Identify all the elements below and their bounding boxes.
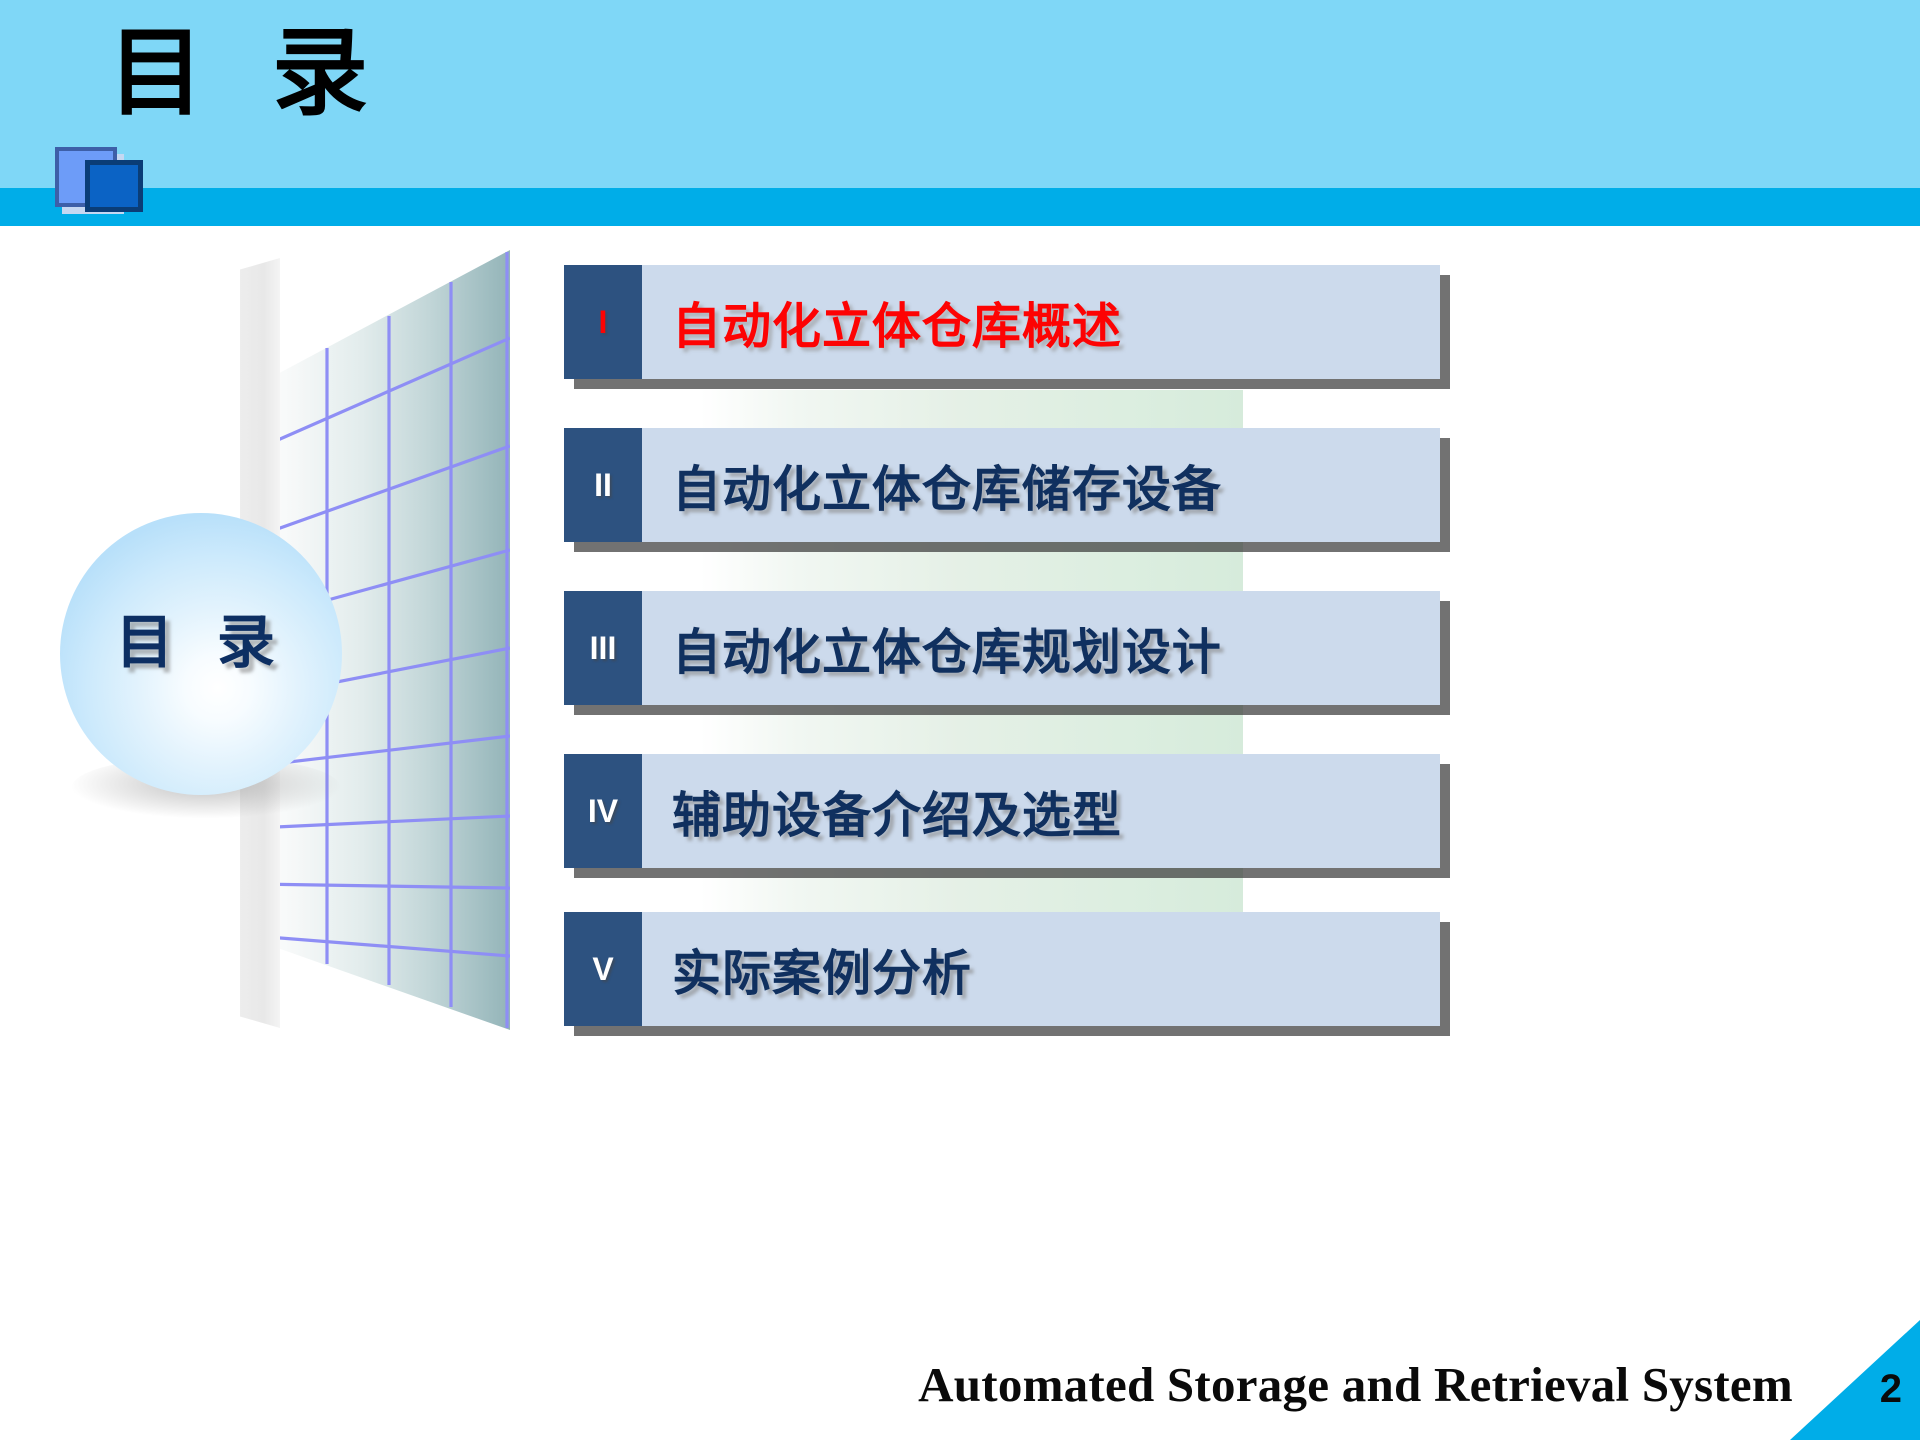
contents-row-5[interactable]: V 实际案例分析: [564, 912, 1440, 1026]
row-label: 实际案例分析: [642, 912, 1440, 1026]
row-body[interactable]: III 自动化立体仓库规划设计: [564, 591, 1440, 705]
row-label: 自动化立体仓库规划设计: [642, 591, 1440, 705]
contents-row-3[interactable]: III 自动化立体仓库规划设计: [564, 591, 1440, 705]
row-numeral: III: [564, 591, 642, 705]
row-numeral: IV: [564, 754, 642, 868]
row-numeral: V: [564, 912, 642, 1026]
contents-row-1[interactable]: I 自动化立体仓库概述: [564, 265, 1440, 379]
row-label: 自动化立体仓库概述: [642, 265, 1440, 379]
row-numeral: II: [564, 428, 642, 542]
row-body[interactable]: V 实际案例分析: [564, 912, 1440, 1026]
sphere-label: 目 录: [60, 595, 342, 679]
row-body[interactable]: I 自动化立体仓库概述: [564, 265, 1440, 379]
row-numeral: I: [564, 265, 642, 379]
row-body[interactable]: IV 辅助设备介绍及选型: [564, 754, 1440, 868]
row-body[interactable]: II 自动化立体仓库储存设备: [564, 428, 1440, 542]
contents-row-4[interactable]: IV 辅助设备介绍及选型: [564, 754, 1440, 868]
row-label: 辅助设备介绍及选型: [642, 754, 1440, 868]
contents-row-2[interactable]: II 自动化立体仓库储存设备: [564, 428, 1440, 542]
slide-canvas: 目 录: [0, 0, 1920, 1440]
row-label: 自动化立体仓库储存设备: [642, 428, 1440, 542]
